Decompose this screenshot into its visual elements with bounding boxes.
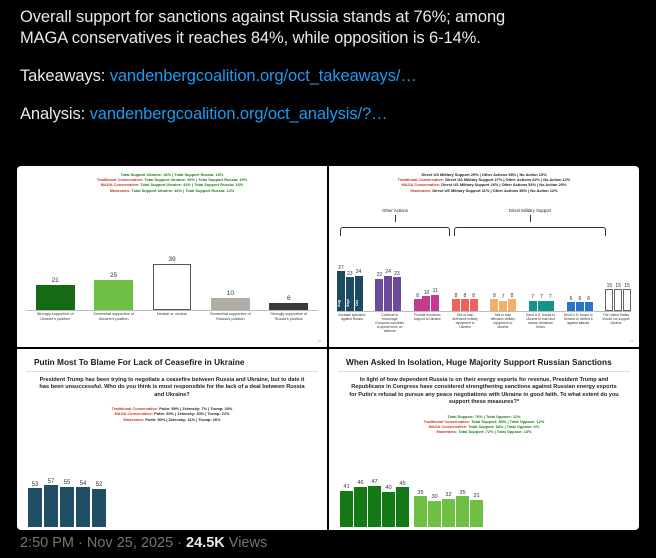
chart1-bar (36, 285, 75, 310)
chart2-plot-area: 27Aug23Sept24Oct222423810118888787776661… (337, 241, 631, 341)
chart4-series-group: 4146474045 (340, 479, 409, 527)
chart2-bar-column: 23Sept (346, 271, 354, 311)
chart2-bar-column: 8 (461, 293, 469, 311)
chart1-bar (269, 303, 308, 310)
chart4-bar-column: 30 (428, 494, 441, 527)
chart2-bar-value: 8 (472, 293, 475, 299)
chart2-bar-column: 8 (452, 293, 460, 311)
chart2-bar-column: 23 (393, 271, 401, 311)
tweet-media-grid[interactable]: Total Support Ukraine: 46% | Total Suppo… (17, 166, 639, 530)
chart2-bar-group: 222423 (375, 269, 401, 311)
chart2-bar-value: 8 (416, 293, 419, 299)
chart2-bar-column: 15 (614, 283, 622, 312)
chart3-bar (44, 485, 58, 527)
chart4-bar-value: 47 (371, 479, 377, 485)
chart2-bar-value: 8 (511, 293, 514, 299)
chart4-bars: 41464740453530323531 (340, 471, 488, 527)
chart4-bar-value: 31 (473, 493, 479, 499)
tweet-body: Overall support for sanctions against Ru… (0, 0, 656, 125)
chart2-axis-line (337, 311, 631, 312)
chart2-bar-value: 6 (578, 296, 581, 302)
chart2-bar (490, 299, 498, 311)
chart2-bar (414, 299, 422, 311)
chart4-bar-column: 40 (382, 485, 395, 527)
tweet-post: Overall support for sanctions against Ru… (0, 0, 656, 558)
chart4-bar-column: 47 (368, 479, 381, 527)
chart4-bar-column: 45 (396, 481, 409, 527)
chart1-axis-line (26, 310, 318, 311)
chart3-title: Putin Most To Blame For Lack of Ceasefir… (26, 351, 318, 372)
chart2-bar-column: 24 (384, 269, 392, 311)
post-date: Nov 25, 2025 (87, 535, 173, 551)
chart2-category-label: Sell or loan offensive military equipmen… (488, 313, 518, 339)
footer-separator-1: · (74, 535, 87, 551)
chart4-bar (382, 492, 395, 527)
chart3-bar-value: 52 (96, 482, 103, 488)
chart4-bar-column: 41 (340, 484, 353, 527)
chart2-bar-value: 10 (424, 290, 430, 296)
chart2-month-label: Sept (346, 297, 354, 310)
analysis-link[interactable]: vandenbergcoalition.org/oct_analysis/?… (90, 105, 388, 123)
chart1-category-label: Somewhat supportive of Ukraine's positio… (88, 312, 139, 332)
chart2-bar-value: 7 (502, 294, 505, 300)
chart4-bar-value: 32 (445, 492, 451, 498)
chart2-bar (623, 289, 631, 311)
chart2-bar (605, 289, 613, 311)
chart1-bars: 212539106 (26, 248, 318, 310)
chart4-bar (442, 499, 455, 527)
chart1-bar-value: 39 (168, 256, 175, 263)
chart4-bar-column: 46 (354, 480, 367, 527)
chart4-bar-value: 30 (431, 494, 437, 500)
chart4-bar-column: 35 (414, 490, 427, 527)
chart4-bar-value: 40 (385, 485, 391, 491)
chart4-series-group: 3530323531 (414, 490, 483, 527)
chart2-bar-group: 27Aug23Sept24Oct (337, 265, 363, 311)
chart2-bar (585, 302, 593, 311)
chart2-bar (452, 299, 460, 311)
chart2-bar (375, 279, 383, 311)
chart2-bar (576, 302, 584, 311)
chart1-page-number: 22 (318, 339, 321, 343)
stat-line-4-chart2: Direct US Military Support 31% | Other A… (432, 188, 557, 193)
chart2-bar-value: 27 (338, 265, 344, 271)
chart1-bar-column: 21 (30, 277, 81, 310)
chart2-bar-group: 151515 (605, 283, 631, 312)
chart1-category-label: Neutral or unclear (146, 312, 197, 332)
chart2-bar (499, 301, 507, 311)
chart1-bar-column: 6 (263, 295, 314, 310)
chart1-bar (211, 298, 250, 310)
chart2-bar: Sept (346, 277, 354, 311)
chart4-bar (354, 487, 367, 527)
chart1-bar (94, 280, 133, 310)
chart3-bar-value: 57 (48, 479, 55, 485)
chart2-bar (422, 296, 430, 311)
chart4-bar (414, 496, 427, 527)
chart2-bar-group: 888 (452, 293, 478, 311)
chart2-category-labels: Increase sanctions against RussiaContinu… (337, 313, 631, 339)
chart3-plot-area: 5357555452 (28, 471, 124, 527)
chart2-bar-column: 7 (538, 294, 546, 311)
chart1-bar (153, 264, 192, 310)
chart2-bar-value: 8 (455, 293, 458, 299)
chart1-category-label: Somewhat supportive of Russia's position (205, 312, 256, 332)
chart2-bar-value: 15 (624, 283, 630, 289)
chart1-plot-area: 212539106 Strongly supportive of Ukraine… (26, 240, 318, 336)
chart2-bar-column: 8 (470, 293, 478, 311)
chart2-bar-value: 7 (549, 294, 552, 300)
chart2-month-label: Aug (337, 297, 345, 310)
chart1-bar-value: 6 (287, 295, 291, 302)
chart1-category-label: Strongly supportive of Russia's position (263, 312, 314, 332)
chart3-bar-column: 55 (60, 480, 74, 527)
chart2-bar-value: 24 (385, 269, 391, 275)
chart2-bar (614, 289, 622, 311)
chart3-bar-value: 54 (80, 481, 87, 487)
chart1-bar-column: 10 (205, 290, 256, 310)
chart2-bar-group: 878 (490, 293, 516, 311)
chart3-bar-column: 52 (92, 482, 106, 527)
chart3-bar (76, 487, 90, 527)
takeaways-label: Takeaways: (20, 67, 105, 85)
takeaways-link[interactable]: vandenbergcoalition.org/oct_takeaways/… (110, 67, 417, 85)
chart2-bar-column: 7 (546, 294, 554, 311)
chart4-bar (340, 491, 353, 527)
stat-line-3-chart3: Putin: 50% | Zelensky: 11% | Trump: 26% (145, 417, 220, 422)
stat-label-mod-chart2: Moderates: (411, 188, 432, 193)
chart1-bar-value: 10 (227, 290, 234, 297)
stat-lines-chart1: Total Support Ukraine: 46% | Total Suppo… (20, 168, 324, 193)
chart2-bar-value: 15 (607, 283, 613, 289)
chart2-bar-column: 22 (375, 272, 383, 311)
chart4-bar (368, 486, 381, 527)
chart3-bar (92, 489, 106, 527)
chart2-bar-column: 6 (576, 296, 584, 311)
chart2-bar (508, 299, 516, 311)
bracket-tick-left (395, 215, 396, 222)
stat-line-4-chart4: Total Support: 72% | Total Oppose: 14% (458, 429, 531, 434)
chart2-bar (567, 302, 575, 311)
chart2-page-number: 11 (630, 339, 633, 343)
chart1-category-label: Strongly supportive of Ukraine's positio… (30, 312, 81, 332)
chart-quadrant-support-actions-by-month[interactable]: Direct US Military Support 29% | Other A… (329, 166, 639, 347)
chart1-bar-value: 25 (110, 272, 117, 279)
chart2-bar-value: 23 (394, 271, 400, 277)
chart2-category-label: Increase sanctions against Russia (337, 313, 367, 339)
chart3-bar-column: 54 (76, 481, 90, 527)
chart-quadrant-putin-most-to-blame[interactable]: Putin Most To Blame For Lack of Ceasefir… (17, 349, 327, 530)
post-time: 2:50 PM (20, 535, 74, 551)
chart2-bar-column: 15 (623, 283, 631, 312)
bracket-tick-right (530, 215, 531, 222)
chart2-bar-column: 8 (508, 293, 516, 311)
chart2-bar-column: 24Oct (355, 269, 363, 311)
chart2-bar-column: 6 (585, 296, 593, 311)
chart3-bar-value: 55 (64, 480, 71, 486)
chart2-bar-value: 23 (347, 271, 353, 277)
chart2-bar: Aug (337, 271, 345, 311)
chart2-bar (384, 276, 392, 311)
chart4-bar-value: 41 (343, 484, 349, 490)
chart4-bar-value: 35 (459, 490, 465, 496)
chart2-month-label: Oct (355, 297, 363, 310)
chart3-bar (60, 487, 74, 527)
chart1-bar-column: 39 (146, 256, 197, 310)
chart2-bar-column: 11 (431, 288, 439, 311)
chart4-bar-value: 35 (417, 490, 423, 496)
chart4-bar (470, 500, 483, 527)
chart2-bar (529, 301, 537, 311)
footer-separator-2: · (173, 535, 186, 551)
chart1-category-labels: Strongly supportive of Ukraine's positio… (26, 312, 318, 332)
tweet-paragraph-summary: Overall support for sanctions against Ru… (20, 7, 638, 49)
chart1-bar-value: 21 (52, 277, 59, 284)
chart2-bar (393, 277, 401, 311)
tweet-paragraph-takeaways: Takeaways: vandenbergcoalition.org/oct_t… (20, 66, 638, 87)
chart2-bar-column: 8 (490, 293, 498, 311)
stat-line-4-chart1: Total Support Ukraine: 46% | Total Suppo… (132, 188, 235, 193)
chart3-bar-value: 53 (32, 482, 39, 488)
chart2-category-label: Continue to encourage European countries… (375, 313, 405, 339)
chart2-bar-value: 7 (531, 294, 534, 300)
stat-lines-chart3: Traditional Conservative: Putin: 59% | Z… (20, 399, 324, 422)
chart3-subtitle: President Trump has been trying to negot… (20, 372, 324, 399)
chart2-bar-group: 777 (529, 294, 555, 311)
tweet-footer: 2:50 PM · Nov 25, 2025 · 24.5K Views (20, 535, 267, 551)
tweet-paragraph-analysis: Analysis: vandenbergcoalition.org/oct_an… (20, 104, 638, 125)
views-label: Views (229, 535, 267, 551)
chart2-bar-group: 666 (567, 296, 593, 311)
analysis-label: Analysis: (20, 105, 85, 123)
chart2-bar-group: 81011 (414, 288, 440, 311)
chart4-title: When Asked In Isolation, Huge Majority S… (338, 351, 630, 372)
stat-lines-chart2: Direct US Military Support 29% | Other A… (332, 168, 636, 193)
chart3-bar-column: 57 (44, 479, 58, 527)
chart2-bar-value: 8 (463, 293, 466, 299)
chart4-bar (396, 487, 409, 527)
bracket-label-direct-military: Direct Military Support (454, 208, 606, 213)
stat-label-mod-chart3: Moderates: (124, 417, 145, 422)
chart2-category-label: Send U.S. troops to Ukraine to train and… (526, 313, 556, 339)
chart4-bar-column: 32 (442, 492, 455, 527)
bracket-label-other-actions: Other Actions (340, 208, 450, 213)
tweet-line-1: Overall support for sanctions against Ru… (20, 8, 505, 26)
chart2-bar-column: 10 (422, 290, 430, 311)
chart1-bar-column: 25 (88, 272, 139, 310)
chart2-bar-value: 8 (493, 293, 496, 299)
bracket-other-actions (340, 227, 450, 236)
chart2-bar-column: 7 (529, 294, 537, 311)
chart4-bar-column: 31 (470, 493, 483, 527)
chart2-bar: Oct (355, 276, 363, 311)
chart-quadrant-ukraine-russia-position[interactable]: Total Support Ukraine: 46% | Total Suppo… (17, 166, 327, 347)
chart2-bar (431, 295, 439, 311)
chart2-bar (538, 301, 546, 311)
chart3-bars: 5357555452 (28, 471, 106, 527)
chart3-bar (28, 488, 42, 527)
tweet-line-2: MAGA conservatives it reaches 84%, while… (20, 29, 481, 47)
chart4-bar-value: 46 (357, 480, 363, 486)
chart2-bar-column: 27Aug (337, 265, 345, 311)
bracket-direct-military (454, 227, 606, 236)
chart3-bar-column: 53 (28, 482, 42, 527)
chart2-bar-value: 6 (570, 296, 573, 302)
chart2-category-label: Provide economic support to Ukraine (412, 313, 442, 339)
chart4-bar (428, 501, 441, 527)
chart2-bar-value: 6 (587, 296, 590, 302)
chart2-bar-value: 24 (356, 269, 362, 275)
stat-label-mod-chart1: Moderates: (110, 188, 131, 193)
chart2-category-label: The United States should not support Ukr… (601, 313, 631, 339)
chart2-brackets: Other Actions Direct Military Support (338, 208, 630, 236)
chart2-bar (461, 299, 469, 311)
views-count: 24.5K (186, 535, 225, 551)
stat-label-mod-chart4: Moderates: (436, 429, 457, 434)
chart4-bar-column: 35 (456, 490, 469, 527)
chart2-bar-column: 6 (567, 296, 575, 311)
chart2-bar-value: 22 (377, 272, 383, 278)
chart-quadrant-support-russian-sanctions[interactable]: When Asked In Isolation, Huge Majority S… (329, 349, 639, 530)
chart2-category-label: Sell or loan defensive military equipmen… (450, 313, 480, 339)
chart2-category-label: Send U.S. troops to Ukraine to defend it… (563, 313, 593, 339)
chart4-bar-value: 45 (399, 481, 405, 487)
chart2-bar-column: 15 (605, 283, 613, 312)
chart2-bar-value: 7 (540, 294, 543, 300)
chart4-subtitle: In light of how dependent Russia is on t… (332, 372, 636, 407)
chart2-bar-groups: 27Aug23Sept24Oct222423810118888787776661… (337, 255, 631, 311)
chart4-bar (456, 496, 469, 527)
chart2-bar (546, 301, 554, 311)
chart2-bar-column: 8 (414, 293, 422, 311)
stat-lines-chart4: Total Support: 76% | Total Oppose: 11% T… (332, 407, 636, 435)
chart2-bar-column: 7 (499, 294, 507, 311)
chart2-bar-value: 15 (615, 283, 621, 289)
chart2-bar (470, 299, 478, 311)
chart2-bar-value: 11 (433, 288, 438, 294)
